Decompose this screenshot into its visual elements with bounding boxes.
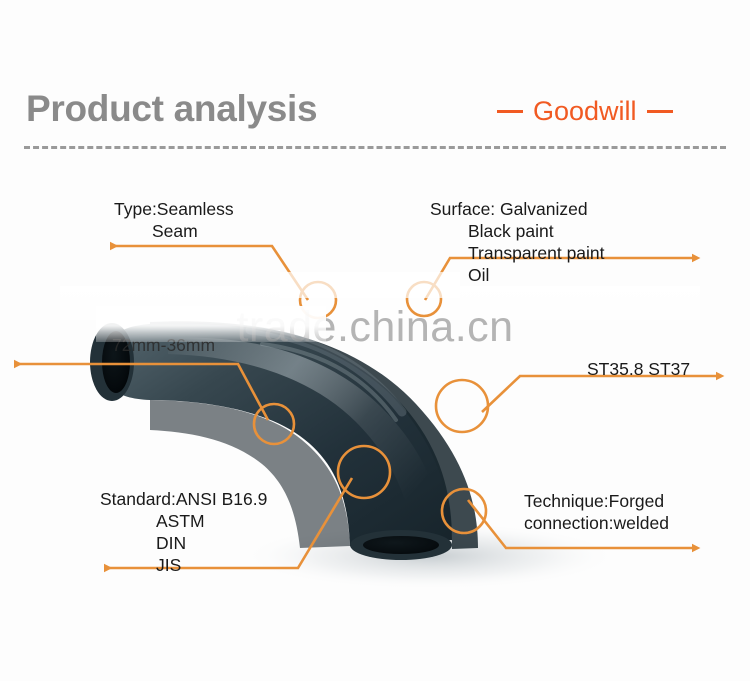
callout-label-material: ST35.8 ST37 xyxy=(587,358,690,380)
product-analysis-infographic: Product analysis Goodwill xyxy=(0,0,750,681)
callout-line: connection:welded xyxy=(524,512,669,534)
callout-line: Seam xyxy=(114,220,234,242)
callout-line: Surface: Galvanized xyxy=(430,198,605,220)
callout-label-size: 72mm-36mm xyxy=(112,334,215,356)
callout-line: Oil xyxy=(430,264,605,286)
callout-label-type: Type:Seamless Seam xyxy=(114,198,234,242)
callout-label-technique: Technique:Forged connection:welded xyxy=(524,490,669,534)
callout-line: Black paint xyxy=(430,220,605,242)
callout-label-surface: Surface: Galvanized Black paint Transpar… xyxy=(430,198,605,286)
callout-line: ST35.8 ST37 xyxy=(587,358,690,380)
callout-line: DIN xyxy=(100,532,267,554)
callout-line: ASTM xyxy=(100,510,267,532)
callout-line: Standard:ANSI B16.9 xyxy=(100,488,267,510)
callout-label-standard: Standard:ANSI B16.9 ASTM DIN JIS xyxy=(100,488,267,576)
callout-line: Technique:Forged xyxy=(524,490,669,512)
callout-line: Type:Seamless xyxy=(114,198,234,220)
callout-line: Transparent paint xyxy=(430,242,605,264)
marker-material xyxy=(436,380,488,432)
callout-line: 72mm-36mm xyxy=(112,334,215,356)
callout-line: JIS xyxy=(100,554,267,576)
elbow-outlet-bore xyxy=(363,536,439,554)
connector-material xyxy=(482,376,716,412)
